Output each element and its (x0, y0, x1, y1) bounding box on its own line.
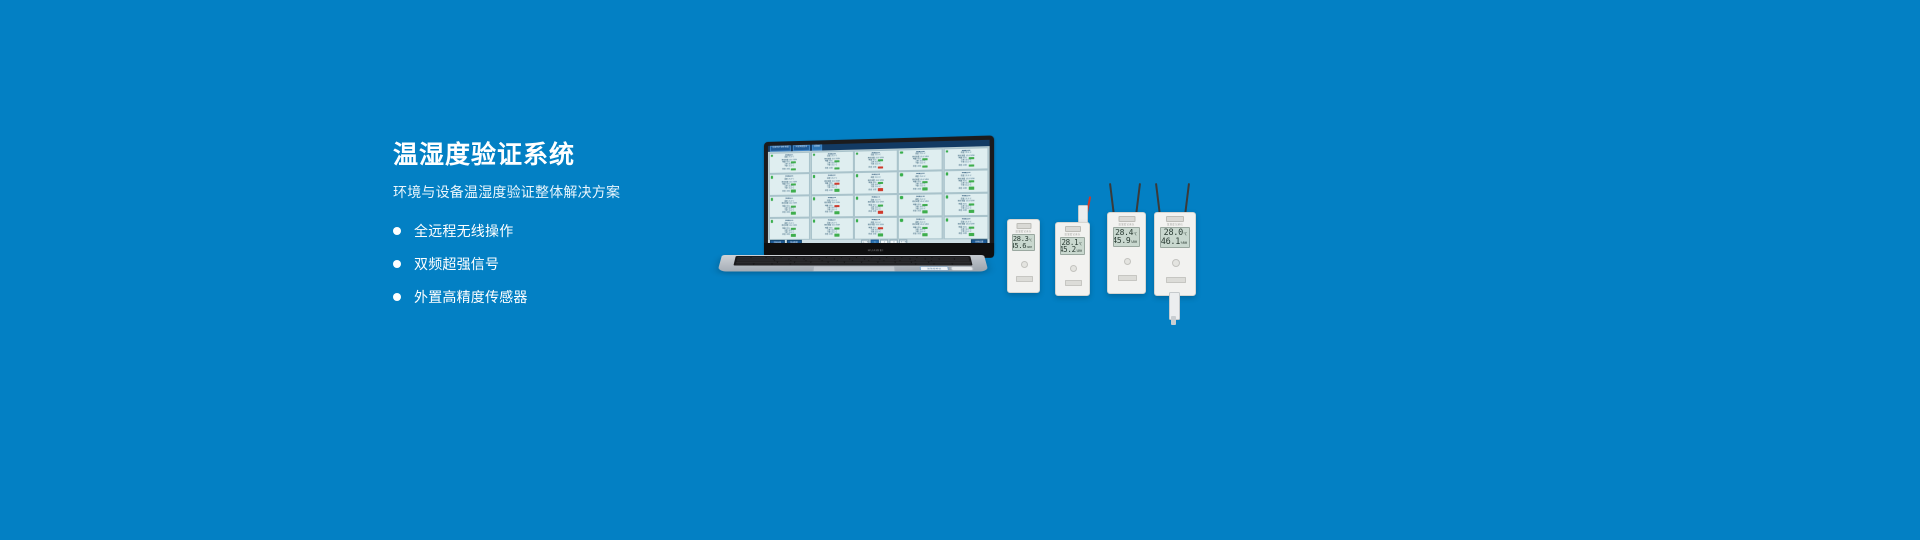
sensor-status-dot-icon (770, 198, 772, 200)
sensor-row-key: 状态 (825, 212, 828, 214)
data-logger-1: 温湿度记录仪 28.3 ℃ 45.6 %RH (1007, 219, 1040, 293)
sensor-row-value: 正常 (873, 189, 877, 191)
sensor-card-row: 状态正常 (770, 212, 808, 215)
sensor-row-key: 状态 (913, 233, 917, 235)
sensor-row-key: 状态 (782, 212, 785, 214)
sensor-status-dot-icon (900, 219, 903, 221)
sensor-card-row: 状态正常 (770, 234, 808, 236)
page-title: 温湿度验证系统 (393, 140, 723, 170)
logger-lcd-display: 28.4 ℃ 45.9 %RH (1113, 227, 1140, 247)
keyboard-row (735, 264, 971, 265)
sensor-status-dot-icon (770, 220, 772, 222)
sensor-card[interactable]: 检测点16温度25.3 ℃相对湿度45.6 %RH电量85%上限30.0 ℃下限… (768, 218, 810, 240)
status-badge (923, 165, 928, 168)
lcd-humidity-row: 45.6 %RH (1015, 243, 1032, 250)
feature-label: 双频超强信号 (414, 254, 499, 274)
sensor-row-value: 正常 (786, 168, 789, 170)
bullet-dot-icon (393, 293, 401, 301)
lcd-temperature-unit: ℃ (1134, 233, 1137, 236)
laptop-illustration: 设备列表 参数·数据 历史数据查询 报警器 检测点01温度25.3 ℃相对湿度4… (722, 142, 984, 300)
sensor-row-key: 状态 (913, 211, 917, 213)
logger-brand-label: 温湿度记录仪 (1056, 232, 1089, 236)
sensor-card-row: 状态正常 (813, 189, 852, 192)
sensor-row-key: 状态 (958, 187, 962, 189)
sensor-card[interactable]: 检测点18温度25.3 ℃相对湿度45.6 %RH电量85%上限30.0 ℃下限… (854, 217, 898, 239)
sensor-status-dot-icon (946, 219, 949, 222)
sensor-card[interactable]: 检测点12温度25.3 ℃相对湿度45.6 %RH电量85%上限30.0 ℃下限… (811, 195, 854, 217)
bullet-dot-icon (393, 260, 401, 268)
sensor-card[interactable]: 检测点10温度25.3 ℃相对湿度45.6 %RH电量85%上限30.0 ℃下限… (943, 170, 989, 193)
probe-tip (1171, 316, 1176, 325)
lcd-humidity-unit: %RH (1131, 241, 1137, 244)
sensor-row-value: 正常 (829, 234, 832, 236)
sensor-row-key: 状态 (868, 166, 872, 168)
logger-port-slot (1118, 275, 1137, 281)
status-badge (878, 234, 883, 236)
page-subtitle: 环境与设备温湿度验证整体解决方案 (393, 183, 723, 201)
sensor-card[interactable]: 检测点13温度25.3 ℃相对湿度45.6 %RH电量85%上限30.0 ℃下限… (854, 194, 898, 217)
sensor-row-value: 正常 (963, 210, 967, 212)
sensor-card[interactable]: 检测点19温度25.3 ℃相对湿度45.6 %RH电量85%上限30.0 ℃下限… (898, 216, 943, 239)
lcd-humidity-unit: %RH (1076, 250, 1082, 253)
status-badge (791, 190, 796, 192)
sensor-card-row: 状态正常 (900, 233, 940, 236)
sensor-status-dot-icon (900, 174, 903, 177)
sensor-row-key: 状态 (868, 211, 872, 213)
sensor-row-key: 状态 (913, 188, 917, 190)
sensor-card[interactable]: 检测点03温度25.3 ℃相对湿度45.6 %RH电量85%上限30.0 ℃下限… (854, 149, 898, 172)
sensor-status-dot-icon (813, 153, 815, 155)
lcd-humidity-row: 45.9 %RH (1116, 237, 1137, 245)
logger-lcd-display: 28.0 ℃ 46.1 %RH (1160, 227, 1190, 248)
sensor-card[interactable]: 检测点15温度25.3 ℃相对湿度45.6 %RH电量85%上限30.0 ℃下限… (943, 193, 989, 216)
status-badge (923, 188, 928, 190)
sensor-status-dot-icon (946, 150, 949, 153)
sensor-card-row: 状态正常 (856, 188, 895, 191)
sensor-card[interactable]: 检测点14温度25.3 ℃相对湿度45.6 %RH电量85%上限30.0 ℃下限… (898, 194, 943, 217)
laptop-sticker: 温湿度验证 (920, 267, 949, 271)
sensor-row-key: 状态 (868, 189, 872, 191)
sensor-card-row: 状态正常 (900, 210, 940, 213)
laptop-trackpad[interactable] (813, 266, 896, 271)
sensor-status-dot-icon (770, 176, 772, 178)
sensor-card-row: 状态正常 (946, 164, 987, 167)
sensor-card[interactable]: 检测点08温度25.3 ℃相对湿度45.6 %RH电量85%上限30.0 ℃下限… (854, 172, 898, 195)
sensor-card-row: 状态正常 (900, 165, 940, 168)
logger-brand-label: 温湿度记录仪 (1108, 222, 1145, 226)
logger-power-button[interactable] (1070, 265, 1077, 272)
sensor-row-key: 状态 (958, 210, 962, 212)
sensor-status-dot-icon (770, 154, 772, 156)
sensor-status-dot-icon (813, 175, 815, 177)
sensor-card-row: 状态正常 (813, 211, 852, 214)
sensor-row-key: 状态 (825, 189, 828, 191)
lcd-humidity-value: 46.1 (1161, 238, 1180, 247)
sensor-status-dot-icon (900, 196, 903, 199)
sensor-row-key: 状态 (825, 167, 828, 169)
list-item: 外置高精度传感器 (393, 287, 723, 307)
lcd-temperature-unit: ℃ (1183, 233, 1187, 237)
sensor-row-value: 正常 (917, 165, 921, 167)
feature-list: 全远程无线操作 双频超强信号 外置高精度传感器 (393, 221, 723, 307)
sensor-card-row: 状态正常 (770, 168, 808, 171)
status-badge (791, 168, 796, 170)
data-logger-2: 温湿度记录仪 28.1 ℃ 45.2 %RH (1055, 222, 1090, 296)
sensor-status-dot-icon (813, 198, 815, 200)
sensor-row-value: 正常 (786, 234, 789, 236)
status-badge (878, 211, 883, 213)
sensor-card[interactable]: 检测点01温度25.3 ℃相对湿度45.6 %RH电量85%上限30.0 ℃下限… (768, 151, 810, 173)
sensor-status-dot-icon (946, 173, 949, 176)
sensor-row-value: 正常 (829, 167, 832, 169)
logger-power-button[interactable] (1172, 259, 1180, 267)
lcd-humidity-value: 45.9 (1113, 237, 1130, 245)
sensor-card-row: 状态正常 (813, 167, 852, 170)
lcd-temperature-unit: ℃ (1029, 239, 1032, 242)
hero-copy-block: 温湿度验证系统 环境与设备温湿度验证整体解决方案 全远程无线操作 双频超强信号 … (393, 140, 723, 320)
sensor-row-value: 正常 (786, 212, 789, 214)
sensor-card-row: 状态正常 (900, 188, 940, 191)
sensor-row-value: 正常 (873, 211, 877, 213)
data-logger-3: 温湿度记录仪 28.4 ℃ 45.9 %RH (1107, 212, 1146, 294)
sensor-row-key: 状态 (913, 165, 917, 167)
sensor-card-row: 状态正常 (946, 233, 987, 236)
status-badge (968, 233, 973, 235)
sensor-card-row: 状态正常 (813, 234, 852, 237)
sensor-row-key: 状态 (782, 168, 785, 170)
bullet-dot-icon (393, 227, 401, 235)
sensor-row-value: 正常 (963, 187, 967, 189)
status-badge (834, 189, 839, 191)
sensor-card[interactable]: 检测点04温度25.3 ℃相对湿度45.6 %RH电量85%上限30.0 ℃下限… (898, 148, 943, 171)
status-badge (878, 189, 883, 191)
laptop-screen: 设备列表 参数·数据 历史数据查询 报警器 检测点01温度25.3 ℃相对湿度4… (768, 140, 990, 247)
sensor-card[interactable]: 检测点05温度25.3 ℃相对湿度45.6 %RH电量85%上限30.0 ℃下限… (943, 147, 989, 171)
sensor-card[interactable]: 检测点02温度25.3 ℃相对湿度45.6 %RH电量85%上限30.0 ℃下限… (811, 150, 854, 173)
sensor-row-value: 正常 (829, 212, 832, 214)
logger-brand-label: 温湿度记录仪 (1155, 222, 1195, 226)
sensor-card[interactable]: 检测点09温度25.3 ℃相对湿度45.6 %RH电量85%上限30.0 ℃下限… (898, 171, 943, 194)
status-badge (878, 166, 883, 168)
status-badge (968, 210, 973, 212)
sensor-card-row: 状态正常 (946, 187, 987, 190)
status-badge (923, 233, 928, 235)
sensor-row-key: 状态 (868, 234, 872, 236)
lcd-humidity-value: 45.2 (1060, 246, 1076, 254)
sensor-row-value: 正常 (917, 211, 921, 213)
sensor-card-row: 状态正常 (946, 210, 987, 213)
sensor-status-dot-icon (946, 196, 949, 199)
laptop-lid: 设备列表 参数·数据 历史数据查询 报警器 检测点01温度25.3 ℃相对湿度4… (764, 135, 994, 254)
lcd-humidity-unit: %RH (1027, 246, 1032, 249)
laptop-brand-label: HUAWEI (868, 248, 884, 252)
logger-lcd-display: 28.1 ℃ 45.2 %RH (1060, 237, 1085, 255)
status-badge (968, 187, 973, 190)
laptop-base: 温湿度验证 (717, 255, 988, 272)
status-badge (968, 164, 973, 167)
lcd-humidity-row: 46.1 %RH (1163, 238, 1187, 247)
sensor-row-key: 状态 (958, 233, 962, 235)
list-item: 全远程无线操作 (393, 221, 723, 241)
sensor-card[interactable]: 检测点11温度25.3 ℃相对湿度45.6 %RH电量85%上限30.0 ℃下限… (768, 196, 810, 218)
feature-label: 全远程无线操作 (414, 221, 513, 241)
logger-power-button[interactable] (1021, 261, 1028, 268)
status-badge (834, 212, 839, 214)
sensor-status-dot-icon (813, 220, 815, 222)
logger-lcd-display: 28.3 ℃ 45.6 %RH (1012, 234, 1035, 251)
lcd-humidity-value: 45.6 (1012, 243, 1026, 250)
sensor-row-value: 正常 (873, 234, 877, 236)
sensor-card-row: 状态正常 (856, 234, 895, 237)
data-logger-4: 温湿度记录仪 28.0 ℃ 46.1 %RH (1154, 212, 1196, 296)
sensor-card[interactable]: 检测点17温度25.3 ℃相对湿度45.6 %RH电量85%上限30.0 ℃下限… (811, 217, 854, 239)
logger-port-slot (1016, 276, 1033, 282)
hero-banner: 温湿度验证系统 环境与设备温湿度验证整体解决方案 全远程无线操作 双频超强信号 … (0, 0, 1920, 540)
sensor-card[interactable]: 检测点20温度25.3 ℃相对湿度45.6 %RH电量85%上限30.0 ℃下限… (943, 216, 989, 239)
sensor-row-key: 状态 (782, 190, 785, 192)
logger-port-slot (1065, 280, 1082, 286)
sensor-card-row: 状态正常 (770, 190, 808, 193)
sensor-row-key: 状态 (825, 234, 828, 236)
sensor-card-row: 状态正常 (856, 166, 895, 169)
sensor-status-dot-icon (900, 151, 903, 154)
logger-port-slot (1166, 277, 1186, 283)
status-badge (791, 212, 796, 214)
sensor-row-value: 正常 (786, 190, 789, 192)
sensor-card[interactable]: 检测点06温度25.3 ℃相对湿度45.6 %RH电量85%上限30.0 ℃下限… (768, 173, 810, 195)
sensor-row-key: 状态 (958, 164, 962, 166)
status-badge (834, 167, 839, 169)
status-badge (791, 234, 796, 236)
lcd-humidity-unit: %RH (1181, 242, 1187, 246)
sensor-row-value: 正常 (873, 166, 877, 168)
sensor-card[interactable]: 检测点07温度25.3 ℃相对湿度45.6 %RH电量85%上限30.0 ℃下限… (811, 173, 854, 195)
laptop-sticker-secondary (950, 267, 974, 271)
list-item: 双频超强信号 (393, 254, 723, 274)
laptop-keyboard[interactable] (733, 256, 972, 266)
feature-label: 外置高精度传感器 (414, 287, 528, 307)
status-badge (923, 211, 928, 213)
sensor-card-row: 状态正常 (856, 211, 895, 214)
logger-brand-label: 温湿度记录仪 (1008, 229, 1039, 233)
sensor-row-key: 状态 (782, 234, 785, 236)
sensor-row-value: 正常 (829, 189, 832, 191)
sensor-card-grid: 检测点01温度25.3 ℃相对湿度45.6 %RH电量85%上限30.0 ℃下限… (768, 146, 990, 240)
sensor-row-value: 正常 (917, 188, 921, 190)
sensor-row-value: 正常 (917, 233, 921, 235)
logger-power-button[interactable] (1124, 258, 1131, 265)
lcd-humidity-row: 45.2 %RH (1063, 246, 1082, 254)
sensor-row-value: 正常 (963, 164, 967, 166)
sensor-row-value: 正常 (963, 233, 967, 235)
status-badge (834, 234, 839, 236)
